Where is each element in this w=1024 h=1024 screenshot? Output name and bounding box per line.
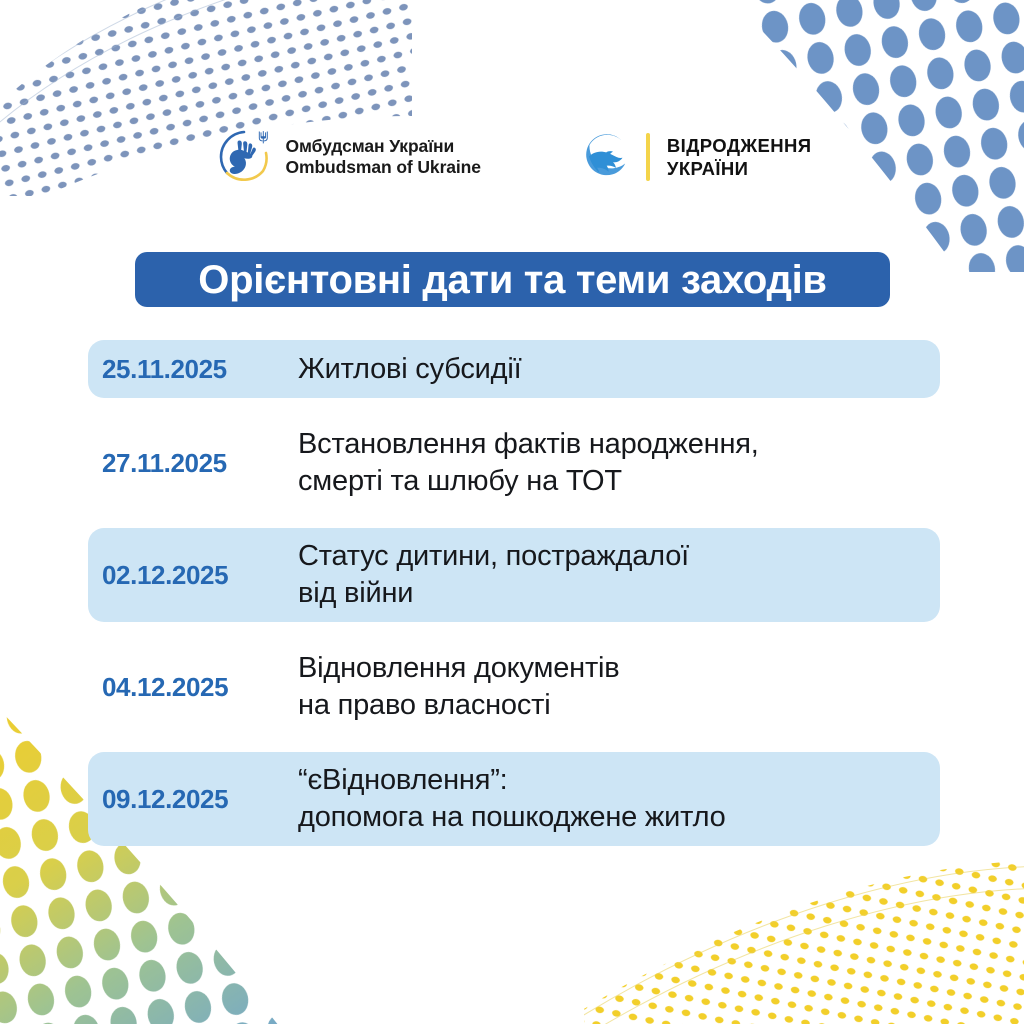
schedule-row: 25.11.2025 Житлові субсидії xyxy=(88,340,940,398)
poster-canvas: Омбудсман України Ombudsman of Ukraine В… xyxy=(0,0,1024,1024)
schedule-row-topic-line: Встановлення фактів народження, xyxy=(298,426,940,463)
ombudsman-logo-text: Омбудсман України Ombudsman of Ukraine xyxy=(286,136,481,178)
schedule-row-topic-line: від війни xyxy=(298,575,940,612)
logo-row: Омбудсман України Ombudsman of Ukraine В… xyxy=(0,126,1024,188)
vidrodzhennia-logo-line-2: УКРАЇНИ xyxy=(667,158,748,179)
schedule-row-date: 02.12.2025 xyxy=(102,560,298,591)
schedule-row-topic: Статус дитини, постраждалої від війни xyxy=(298,538,940,612)
ombudsman-logo-line-ua: Омбудсман України xyxy=(286,136,455,156)
ombudsman-hand-dove-trident-icon xyxy=(213,126,275,188)
schedule-row-topic-line: Статус дитини, постраждалої xyxy=(298,538,940,575)
schedule-row-topic: Житлові субсидії xyxy=(298,351,940,388)
schedule-row-topic-line: смерті та шлюбу на ТОТ xyxy=(298,463,940,500)
schedule-row: 27.11.2025 Встановлення фактів народженн… xyxy=(88,416,940,510)
vidrodzhennia-logo-line-1: ВІДРОДЖЕННЯ xyxy=(667,135,812,156)
schedule-row: 04.12.2025 Відновлення документів на пра… xyxy=(88,640,940,734)
schedule-row-topic-line: на право власності xyxy=(298,687,940,724)
schedule-row-topic: “єВідновлення”: допомога на пошкоджене ж… xyxy=(298,762,940,836)
ombudsman-logo: Омбудсман України Ombudsman of Ukraine xyxy=(213,126,481,188)
schedule-list: 25.11.2025 Житлові субсидії 27.11.2025 В… xyxy=(88,340,940,846)
schedule-row-topic-line: “єВідновлення”: xyxy=(298,762,940,799)
schedule-row-date: 04.12.2025 xyxy=(102,672,298,703)
schedule-row-date: 25.11.2025 xyxy=(102,354,298,385)
ombudsman-logo-line-en: Ombudsman of Ukraine xyxy=(286,157,481,177)
schedule-row-topic: Встановлення фактів народження, смерті т… xyxy=(298,426,940,500)
schedule-row-topic-line: Житлові субсидії xyxy=(298,351,940,388)
title-banner: Орієнтовні дати та теми заходів xyxy=(135,252,890,307)
poster-content: Омбудсман України Ombudsman of Ukraine В… xyxy=(0,0,1024,1024)
vidrodzhennia-bird-circle-icon xyxy=(577,129,633,185)
schedule-row: 02.12.2025 Статус дитини, постраждалої в… xyxy=(88,528,940,622)
logo-divider xyxy=(646,133,650,181)
schedule-row-topic-line: допомога на пошкоджене житло xyxy=(298,799,940,836)
vidrodzhennia-logo-text: ВІДРОДЖЕННЯ УКРАЇНИ xyxy=(667,134,812,180)
schedule-row: 09.12.2025 “єВідновлення”: допомога на п… xyxy=(88,752,940,846)
vidrodzhennia-logo: ВІДРОДЖЕННЯ УКРАЇНИ xyxy=(577,129,812,185)
schedule-row-date: 27.11.2025 xyxy=(102,448,298,479)
schedule-row-date: 09.12.2025 xyxy=(102,784,298,815)
schedule-row-topic-line: Відновлення документів xyxy=(298,650,940,687)
schedule-row-topic: Відновлення документів на право власност… xyxy=(298,650,940,724)
page-title: Орієнтовні дати та теми заходів xyxy=(198,260,826,300)
